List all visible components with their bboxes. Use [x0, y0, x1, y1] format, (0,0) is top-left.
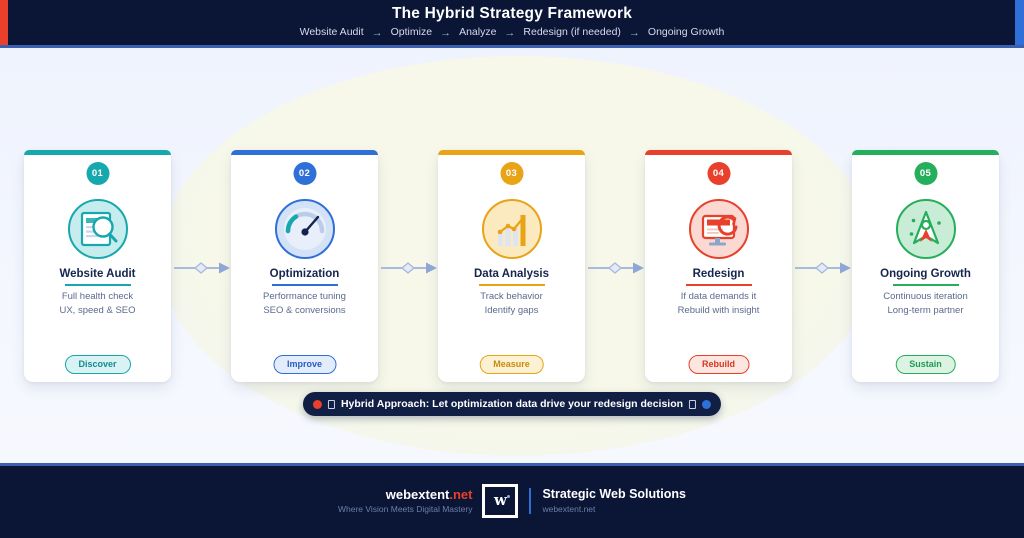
card-top-accent — [438, 150, 585, 155]
card-top-accent — [231, 150, 378, 155]
logo-dot-icon — [507, 495, 510, 498]
card-title-underline — [65, 284, 131, 286]
card-detail-line-1: Full health check — [24, 291, 171, 302]
document-magnifier-icon — [67, 198, 129, 260]
card-detail-line-1: Continuous iteration — [852, 291, 999, 302]
card-detail-line-1: If data demands it — [645, 291, 792, 302]
footer-brand-name: webextent.net — [338, 487, 472, 502]
speedometer-gauge-icon — [274, 198, 336, 260]
banner-text: Hybrid Approach: Let optimization data d… — [341, 398, 683, 410]
card-action-pill[interactable]: Rebuild — [688, 355, 749, 374]
card-title: Ongoing Growth — [852, 268, 999, 280]
card-detail-line-1: Track behavior — [438, 291, 585, 302]
step-card-04[interactable]: 04RedesignIf data demands itRebuild with… — [645, 150, 792, 382]
step-connector-3 — [585, 261, 645, 275]
step-connector-4 — [792, 261, 852, 275]
breadcrumb-separator-icon: → — [372, 27, 383, 39]
footer-bar: webextent.net Where Vision Meets Digital… — [0, 463, 1024, 538]
footer-brand-word: webextent — [386, 487, 450, 502]
step-number-badge: 03 — [500, 162, 523, 185]
step-connector-1 — [171, 261, 231, 275]
card-detail-line-2: Rebuild with insight — [645, 305, 792, 316]
step-number-badge: 02 — [293, 162, 316, 185]
hybrid-approach-banner: Hybrid Approach: Let optimization data d… — [303, 392, 721, 416]
step-number-badge: 05 — [914, 162, 937, 185]
card-top-accent — [852, 150, 999, 155]
card-title: Optimization — [231, 268, 378, 280]
breadcrumb-item-1[interactable]: Website Audit — [292, 26, 372, 38]
card-title-underline — [893, 284, 959, 286]
footer-right-title: Strategic Web Solutions — [542, 487, 686, 501]
card-detail-line-2: SEO & conversions — [231, 305, 378, 316]
card-top-accent — [645, 150, 792, 155]
card-title: Data Analysis — [438, 268, 585, 280]
card-action-pill[interactable]: Improve — [273, 355, 336, 374]
breadcrumb-item-4[interactable]: Redesign (if needed) — [515, 26, 628, 38]
card-action-pill[interactable]: Discover — [64, 355, 130, 374]
card-title-underline — [272, 284, 338, 286]
breadcrumb: Website Audit→Optimize→Analyze→Redesign … — [0, 26, 1024, 38]
breadcrumb-item-2[interactable]: Optimize — [383, 26, 440, 38]
footer-right-block: Strategic Web Solutions webextent.net — [542, 487, 686, 514]
step-card-05[interactable]: 05Ongoing GrowthContinuous iterationLong… — [852, 150, 999, 382]
footer-brand-tld: .net — [449, 487, 472, 502]
logo-w-mark-icon: w — [494, 493, 507, 508]
bar-chart-trend-icon — [481, 198, 543, 260]
card-detail-line-2: Identify gaps — [438, 305, 585, 316]
header-bar: The Hybrid Strategy Framework Website Au… — [0, 0, 1024, 47]
breadcrumb-item-5[interactable]: Ongoing Growth — [640, 26, 732, 38]
card-detail-line-1: Performance tuning — [231, 291, 378, 302]
page-title: The Hybrid Strategy Framework — [0, 5, 1024, 23]
banner-left-dot-icon — [313, 400, 322, 409]
monitor-refresh-icon — [688, 198, 750, 260]
card-detail-line-2: UX, speed & SEO — [24, 305, 171, 316]
compass-navigation-icon — [895, 198, 957, 260]
card-action-pill[interactable]: Measure — [479, 355, 544, 374]
step-card-01[interactable]: 01Website AuditFull health checkUX, spee… — [24, 150, 171, 382]
card-top-accent — [24, 150, 171, 155]
breadcrumb-separator-icon: → — [629, 27, 640, 39]
card-title-underline — [686, 284, 752, 286]
step-card-03[interactable]: 03Data AnalysisTrack behaviorIdentify ga… — [438, 150, 585, 382]
banner-right-glyph-icon — [689, 400, 696, 409]
card-action-pill[interactable]: Sustain — [895, 355, 956, 374]
footer-logo: w — [482, 484, 518, 518]
card-detail-line-2: Long-term partner — [852, 305, 999, 316]
banner-right-dot-icon — [702, 400, 711, 409]
poster-canvas: The Hybrid Strategy Framework Website Au… — [0, 0, 1024, 538]
footer-right-subtitle: webextent.net — [542, 504, 686, 514]
footer-brand-block: webextent.net Where Vision Meets Digital… — [338, 487, 482, 514]
steps-row: 01Website AuditFull health checkUX, spee… — [0, 150, 1024, 382]
breadcrumb-separator-icon: → — [504, 27, 515, 39]
card-title-underline — [479, 284, 545, 286]
step-number-badge: 01 — [86, 162, 109, 185]
breadcrumb-separator-icon: → — [440, 27, 451, 39]
step-number-badge: 04 — [707, 162, 730, 185]
banner-left-glyph-icon — [328, 400, 335, 409]
step-connector-2 — [378, 261, 438, 275]
footer-vertical-divider — [529, 488, 531, 514]
step-card-02[interactable]: 02OptimizationPerformance tuningSEO & co… — [231, 150, 378, 382]
footer-tagline: Where Vision Meets Digital Mastery — [338, 504, 472, 514]
card-title: Website Audit — [24, 268, 171, 280]
breadcrumb-item-3[interactable]: Analyze — [451, 26, 504, 38]
header-underline — [0, 45, 1024, 48]
card-title: Redesign — [645, 268, 792, 280]
